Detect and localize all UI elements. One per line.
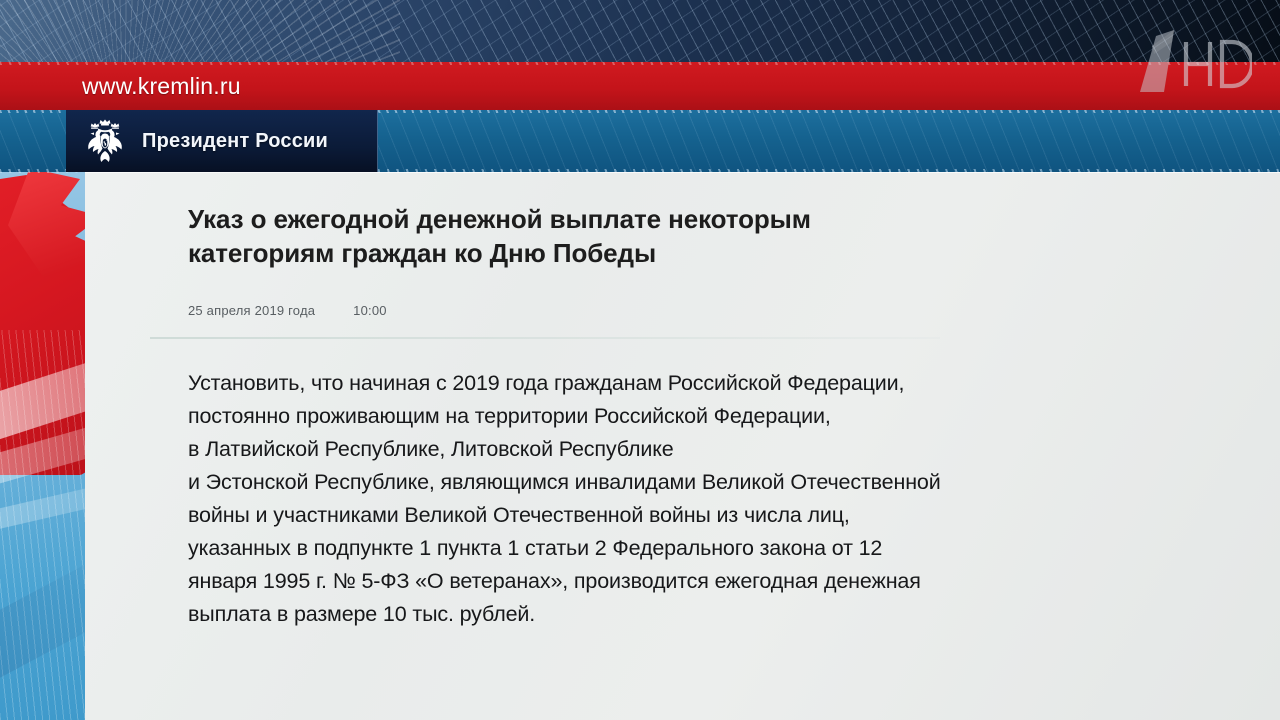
channel-one-hd-logo-icon [1134, 22, 1252, 100]
publish-time: 10:00 [353, 303, 387, 318]
brand-plate: Президент России [66, 110, 378, 172]
document-title: Указ о ежегодной денежной выплате некото… [188, 202, 878, 271]
url-bar: www.kremlin.ru [0, 62, 1280, 110]
url-bar-sheen [0, 62, 1280, 65]
site-url: www.kremlin.ru [82, 73, 241, 100]
document-panel: Указ о ежегодной денежной выплате некото… [85, 172, 1280, 720]
brand-title: Президент России [142, 130, 328, 153]
document-divider [150, 337, 940, 339]
russian-double-headed-eagle-icon [80, 117, 130, 165]
publish-date: 25 апреля 2019 года [188, 303, 315, 318]
document-body-text: Установить, что начиная с 2019 года граж… [188, 367, 1190, 632]
document-meta: 25 апреля 2019 года 10:00 [188, 303, 1190, 318]
broadcast-screen: www.kremlin.ru [0, 0, 1280, 720]
